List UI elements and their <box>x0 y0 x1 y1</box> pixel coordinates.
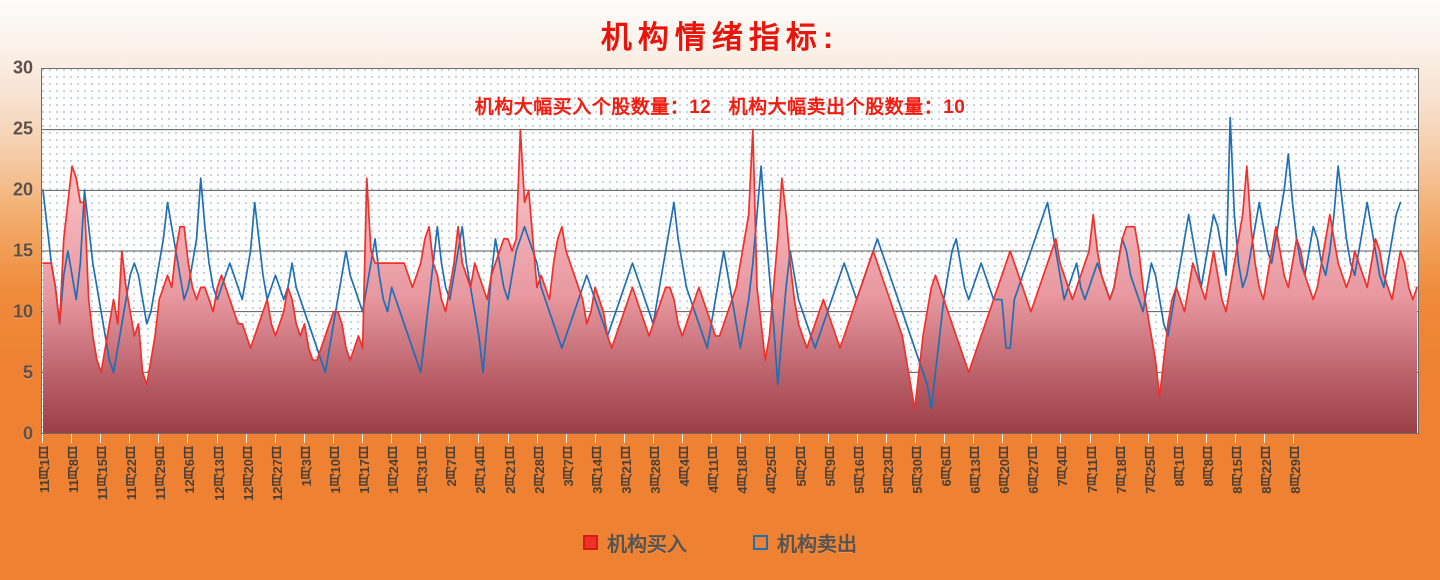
x-tick-label: 4月18日 <box>733 446 752 494</box>
x-tick-label: 6月20日 <box>995 446 1014 494</box>
x-tick-label: 5月30日 <box>908 446 927 494</box>
legend-item-buy[interactable]: 机构买入 <box>583 528 687 557</box>
legend-label-sell: 机构卖出 <box>777 528 857 557</box>
y-tick-label: 10 <box>13 302 33 323</box>
x-tickmark <box>391 434 392 443</box>
x-tick-label: 6月27日 <box>1024 446 1043 494</box>
x-tick-label: 1月24日 <box>384 446 403 494</box>
x-tickmark <box>828 434 829 443</box>
x-tickmark <box>740 434 741 443</box>
x-tick-label: 4月4日 <box>675 446 694 486</box>
x-tick-label: 3月28日 <box>646 446 665 494</box>
x-tickmark <box>478 434 479 443</box>
x-tickmark <box>857 434 858 443</box>
x-tickmark <box>711 434 712 443</box>
x-tickmark <box>508 434 509 443</box>
y-tick-label: 0 <box>23 424 33 445</box>
x-tickmark <box>1060 434 1061 443</box>
page-title: 机构情绪指标: <box>0 12 1440 57</box>
x-tickmark <box>682 434 683 443</box>
x-tick-label: 12月6日 <box>180 446 199 494</box>
x-tickmark <box>1002 434 1003 443</box>
x-tick-label: 3月21日 <box>617 446 636 494</box>
x-tick-label: 2月21日 <box>501 446 520 494</box>
x-tickmark <box>100 434 101 443</box>
x-tick-label: 2月14日 <box>471 446 490 494</box>
x-tick-label: 12月13日 <box>210 446 229 501</box>
annotation-text: 机构大幅买入个股数量：12 机构大幅卖出个股数量：10 <box>0 92 1440 119</box>
x-tickmark <box>1235 434 1236 443</box>
x-tick-label: 11月8日 <box>64 446 83 493</box>
x-tickmark <box>1177 434 1178 443</box>
x-tickmark <box>449 434 450 443</box>
x-tickmark <box>566 434 567 443</box>
x-tick-label: 4月25日 <box>762 446 781 494</box>
x-tick-label: 2月28日 <box>530 446 549 494</box>
x-tickmark <box>1264 434 1265 443</box>
x-tickmark <box>217 434 218 443</box>
x-tickmark <box>624 434 625 443</box>
x-tick-label: 1月10日 <box>326 446 345 494</box>
x-tick-label: 4月11日 <box>704 446 723 493</box>
x-tick-label: 1月17日 <box>355 446 374 494</box>
y-tick-label: 20 <box>13 180 33 201</box>
x-tick-label: 12月20日 <box>239 446 258 501</box>
x-tick-label: 7月4日 <box>1053 446 1072 486</box>
x-tick-label: 8月29日 <box>1286 446 1305 494</box>
x-tickmark <box>1119 434 1120 443</box>
x-tickmark <box>1293 434 1294 443</box>
x-tickmark <box>42 434 43 443</box>
x-tickmark <box>1148 434 1149 443</box>
y-tick-label: 15 <box>13 241 33 262</box>
y-tick-label: 5 <box>23 363 33 384</box>
legend-label-buy: 机构买入 <box>607 528 687 557</box>
x-tick-label: 5月23日 <box>879 446 898 494</box>
x-tick-label: 11月29日 <box>151 446 170 500</box>
x-tick-label: 11月15日 <box>93 446 112 500</box>
x-tick-label: 7月11日 <box>1083 446 1102 493</box>
x-tickmark <box>944 434 945 443</box>
x-tick-label: 8月22日 <box>1257 446 1276 494</box>
legend-swatch-sell-icon <box>753 535 768 550</box>
x-tickmark <box>1090 434 1091 443</box>
x-tickmark <box>246 434 247 443</box>
x-tickmark <box>420 434 421 443</box>
x-tickmark <box>799 434 800 443</box>
x-tick-label: 3月7日 <box>559 446 578 486</box>
x-tick-label: 5月16日 <box>850 446 869 494</box>
plot-area <box>41 68 1419 434</box>
x-tick-label: 6月6日 <box>937 446 956 486</box>
series-area-buy <box>43 130 1417 433</box>
x-tickmark <box>129 434 130 443</box>
x-tickmark <box>275 434 276 443</box>
x-tickmark <box>595 434 596 443</box>
x-tick-label: 1月31日 <box>413 446 432 494</box>
x-tickmark <box>304 434 305 443</box>
x-tick-label: 11月1日 <box>35 446 54 493</box>
x-tickmark <box>915 434 916 443</box>
y-tick-label: 30 <box>13 58 33 79</box>
x-tick-label: 8月1日 <box>1170 446 1189 486</box>
x-tick-label: 7月18日 <box>1112 446 1131 494</box>
x-tickmark <box>158 434 159 443</box>
x-tickmark <box>769 434 770 443</box>
x-tickmark <box>886 434 887 443</box>
x-tick-label: 5月9日 <box>821 446 840 486</box>
x-tickmark <box>973 434 974 443</box>
chart-page: 机构情绪指标: 051015202530 机构大幅买入个股数量：12 机构大幅卖… <box>0 0 1440 580</box>
y-tick-label: 25 <box>13 119 33 140</box>
x-tick-label: 8月8日 <box>1199 446 1218 486</box>
x-tick-label: 8月15日 <box>1228 446 1247 494</box>
x-tick-label: 7月25日 <box>1141 446 1160 494</box>
legend-swatch-buy-icon <box>583 535 598 550</box>
plot-svg <box>42 69 1418 433</box>
x-tick-label: 12月27日 <box>268 446 287 501</box>
x-tickmark <box>537 434 538 443</box>
x-tick-label: 1月3日 <box>297 446 316 486</box>
y-axis: 051015202530 <box>0 0 41 580</box>
x-axis: 11月1日11月8日11月15日11月22日11月29日12月6日12月13日1… <box>41 434 1419 534</box>
x-tickmark <box>1031 434 1032 443</box>
x-tickmark <box>362 434 363 443</box>
x-tickmark <box>1206 434 1207 443</box>
x-tick-label: 5月2日 <box>792 446 811 486</box>
x-tick-label: 11月22日 <box>122 446 141 500</box>
x-tickmark <box>71 434 72 443</box>
legend-item-sell[interactable]: 机构卖出 <box>753 528 857 557</box>
x-tick-label: 6月13日 <box>966 446 985 494</box>
x-tick-label: 2月7日 <box>442 446 461 486</box>
legend: 机构买入 机构卖出 <box>0 528 1440 557</box>
x-tickmark <box>653 434 654 443</box>
x-tickmark <box>333 434 334 443</box>
x-tickmark <box>187 434 188 443</box>
x-tick-label: 3月14日 <box>588 446 607 494</box>
